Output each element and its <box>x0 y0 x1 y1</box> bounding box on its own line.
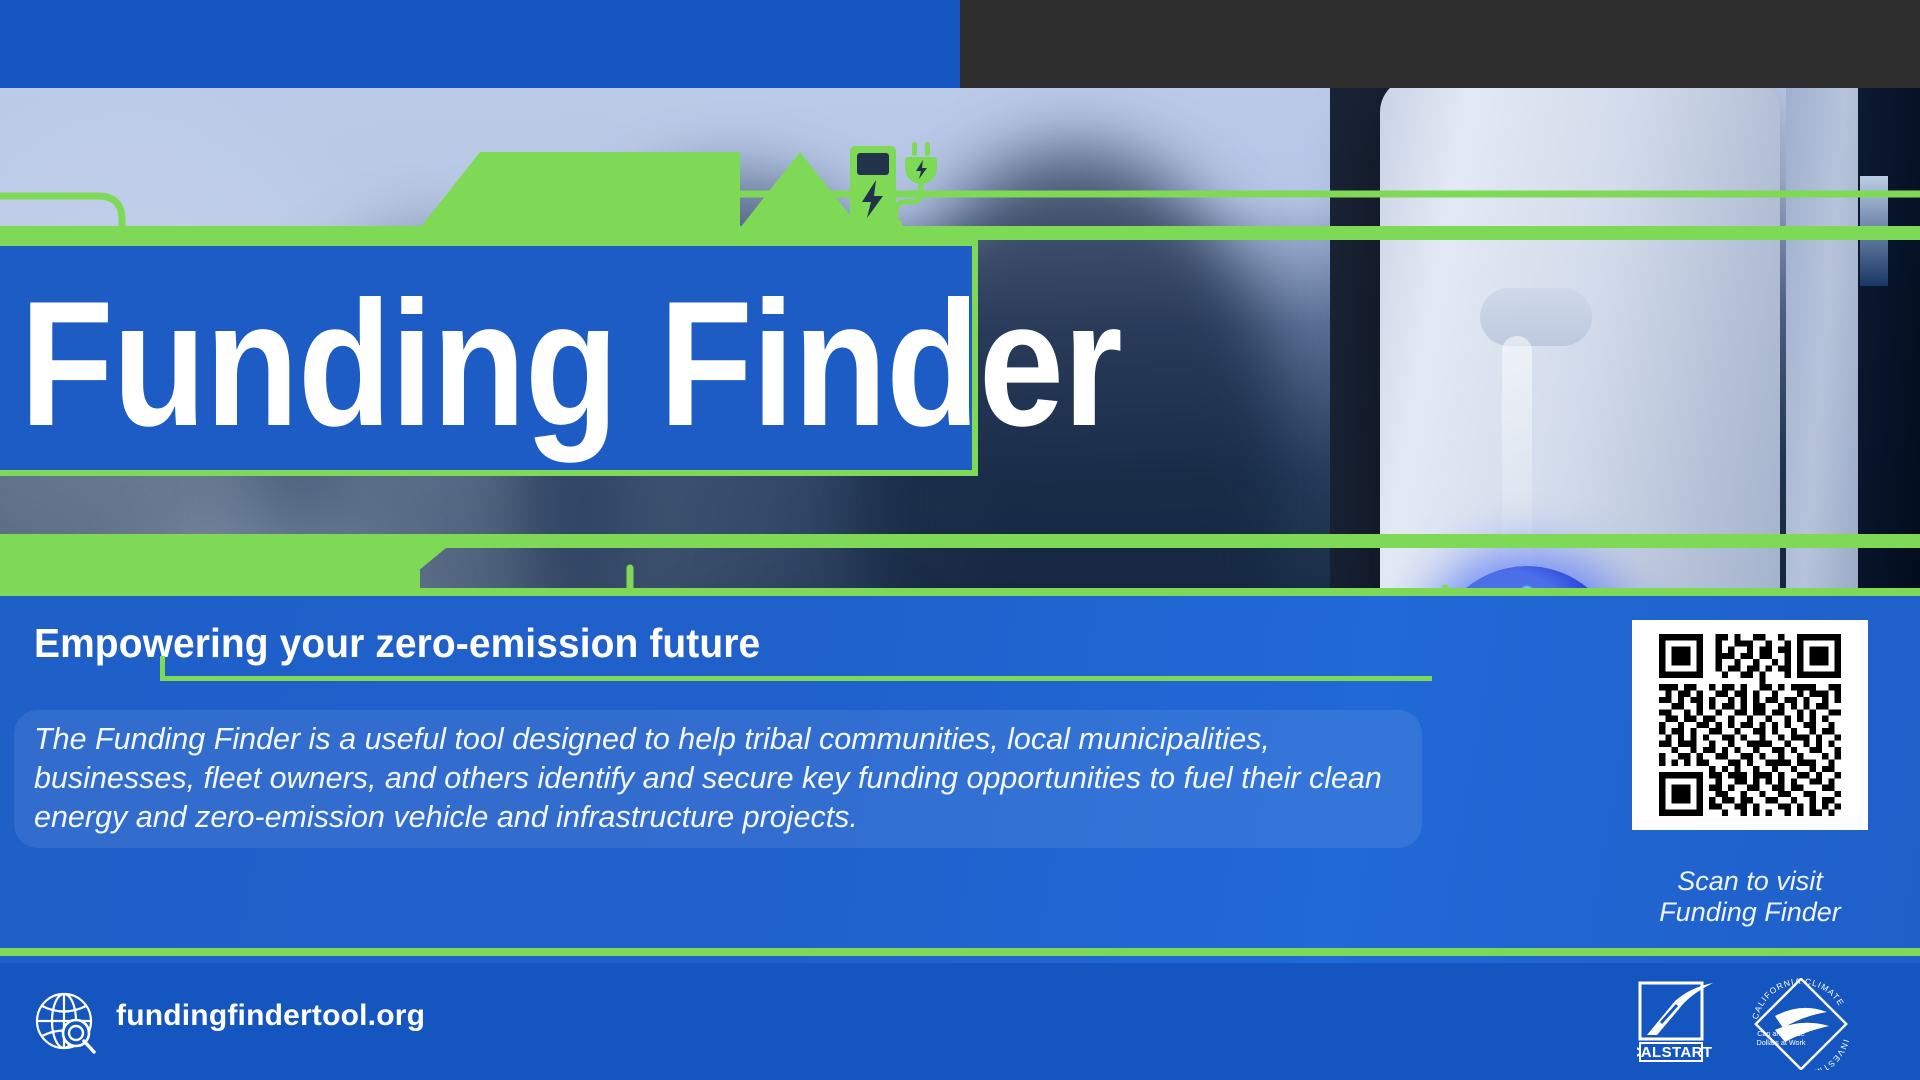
calstart-logo-label: CALSTART <box>1637 1044 1712 1061</box>
qr-caption-line-2: Funding Finder <box>1600 897 1900 928</box>
ev-charging-station-icon <box>846 140 942 232</box>
green-rule-middle <box>0 534 1920 548</box>
top-dark-band <box>0 0 1920 88</box>
page-title: Funding Finder <box>20 252 820 476</box>
content-band-bottom-rule <box>0 948 1920 956</box>
top-blue-band <box>0 0 960 88</box>
california-climate-investments-logo: CALIFORNIA CLIMATE INVESTMENTS Cap and T… <box>1745 978 1857 1070</box>
green-trapezoid-body <box>480 152 740 228</box>
green-trapezoid-right-edge <box>740 152 860 228</box>
cci-tagline-line-1: Cap and Trade <box>1757 1029 1805 1038</box>
globe-search-icon <box>34 990 102 1056</box>
cci-tagline-line-2: Dollars at Work <box>1757 1038 1806 1047</box>
hero-title-panel: Funding Finder <box>0 240 978 476</box>
qr-code[interactable] <box>1632 620 1868 830</box>
calstart-logo: CALSTART <box>1637 981 1717 1063</box>
qr-caption: Scan to visit Funding Finder <box>1600 866 1900 928</box>
qr-caption-line-1: Scan to visit <box>1600 866 1900 897</box>
subheading: Empowering your zero-emission future <box>34 620 760 667</box>
description-text: The Funding Finder is a useful tool desi… <box>34 720 1394 837</box>
green-rule-top <box>0 226 1920 240</box>
content-band-top-rule <box>0 588 1920 596</box>
subheading-underline <box>160 676 1432 681</box>
funding-finder-banner: Funding Finder Empowering your zero-emis… <box>0 0 1920 1080</box>
footer-url[interactable]: fundingfindertool.org <box>116 999 425 1033</box>
qr-code-image <box>1646 634 1854 816</box>
